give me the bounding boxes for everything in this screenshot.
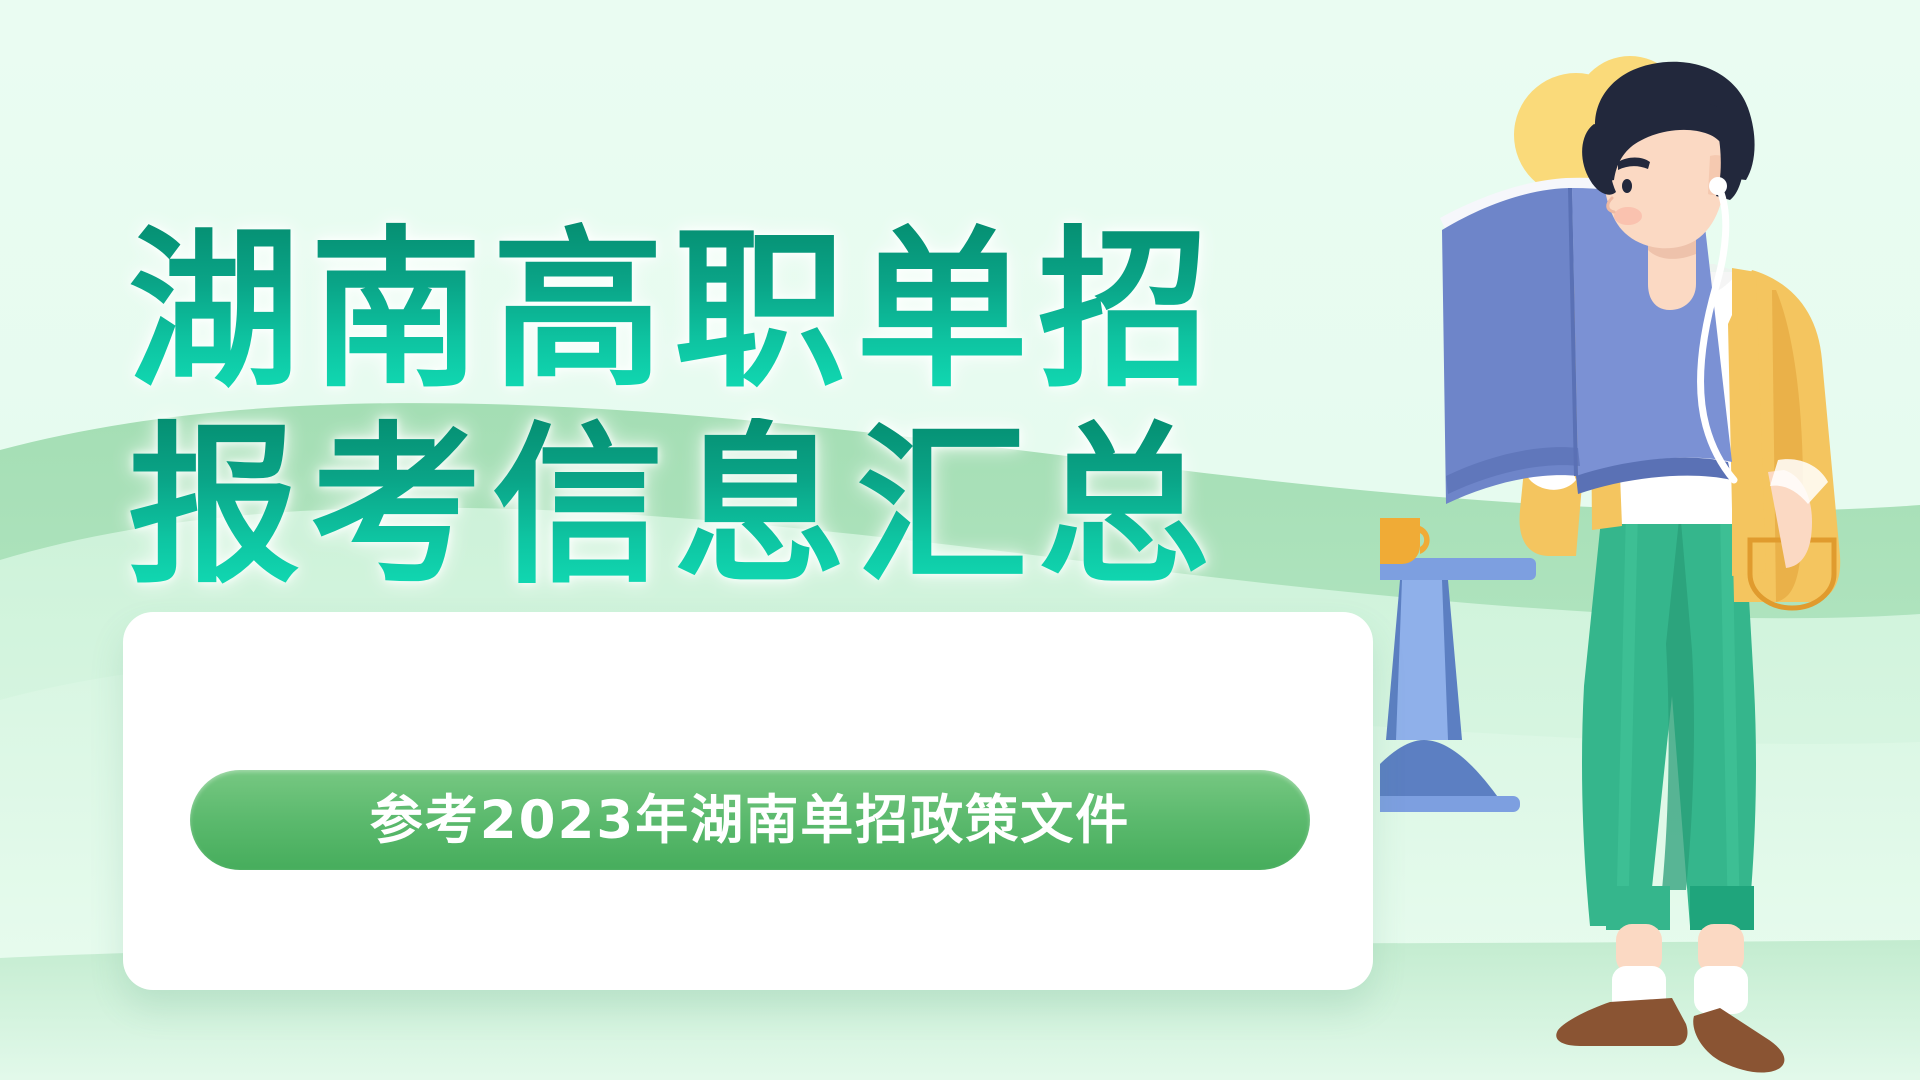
- pants: [1582, 510, 1756, 930]
- cta-button-label: 参考2023年湖南单招政策文件: [370, 794, 1131, 847]
- poster-root: 湖南高职单招 报考信息汇总 参考2023年湖南单招政策文件: [0, 0, 1920, 1080]
- earbud: [1709, 177, 1727, 195]
- student-reading-illustration: [1380, 40, 1920, 1080]
- side-table: [1380, 518, 1536, 812]
- right-sock: [1694, 966, 1748, 1014]
- cta-button[interactable]: 参考2023年湖南单招政策文件: [190, 770, 1310, 870]
- right-shoe: [1693, 1008, 1784, 1073]
- left-shoe: [1556, 998, 1687, 1046]
- coffee-cup: [1380, 518, 1430, 564]
